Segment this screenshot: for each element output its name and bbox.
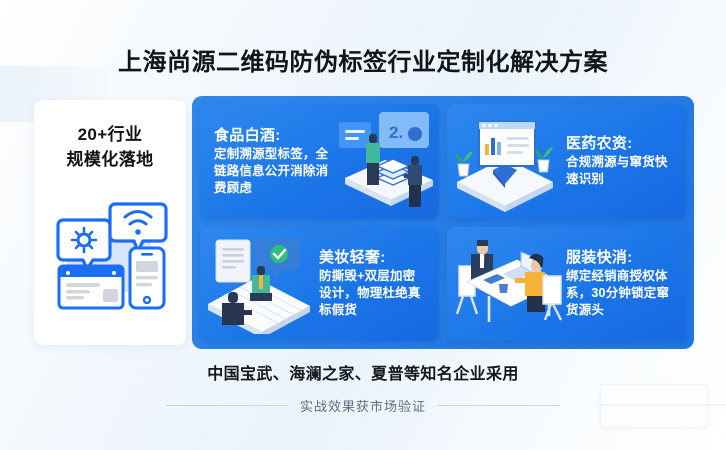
food-liquor-heading: 食品白酒: [214, 126, 332, 146]
pharma-agri-text: 医药农资: 合规溯源与窜货快速识别 [566, 134, 674, 188]
person-teal [250, 266, 272, 301]
apparel-fmcg-illustration [449, 227, 567, 340]
beauty-luxury-heading: 美妆轻奢: [319, 248, 427, 268]
page-title: 上海尚源二维码防伪标签行业定制化解决方案 [0, 42, 726, 77]
pharma-agri-illustration [449, 104, 561, 217]
industry-card-beauty-luxury[interactable]: 美妆轻奢: 防撕毁+双层加密设计，物理杜绝真标假货 [200, 227, 439, 342]
hero-title-line1: 20+行业 [67, 122, 154, 147]
hero-card: 20+行业 规模化落地 [34, 100, 186, 345]
footer-subtitle: 实战效果获市场验证 [300, 396, 426, 415]
beauty-luxury-body: 防撕毁+双层加密设计，物理杜绝真标假货 [319, 268, 427, 319]
hero-title-line2: 规模化落地 [67, 147, 154, 172]
beauty-luxury-illustration [202, 227, 316, 340]
content-stage: 20+行业 规模化落地 [34, 100, 694, 345]
industry-card-food-liquor[interactable]: 2. [200, 104, 439, 219]
footer-rule-left [166, 405, 288, 406]
footer-subtitle-row: 实战效果获市场验证 [0, 396, 726, 415]
apparel-fmcg-heading: 服装快消: [566, 248, 674, 268]
food-liquor-body: 定制溯源型标签，全链路信息公开消除消费顾虑 [214, 146, 332, 197]
smartphone-icon [130, 248, 164, 308]
food-liquor-illustration: 2. [329, 104, 439, 217]
industry-card-apparel-fmcg[interactable]: 服装快消: 绑定经销商授权体系，30分钟锁定窜货源头 [447, 227, 686, 342]
industry-card-pharma-agri[interactable]: 医药农资: 合规溯源与窜货快速识别 [447, 104, 686, 219]
hero-title: 20+行业 规模化落地 [67, 122, 154, 172]
apparel-fmcg-text: 服装快消: 绑定经销商授权体系，30分钟锁定窜货源头 [566, 248, 674, 319]
beauty-luxury-text: 美妆轻奢: 防撕毁+双层加密设计，物理杜绝真标假货 [319, 248, 427, 319]
pharma-agri-body: 合规溯源与窜货快速识别 [566, 154, 674, 188]
svg-text:2.: 2. [389, 123, 403, 142]
browser-window-icon [59, 266, 123, 308]
food-liquor-text: 食品白酒: 定制溯源型标签，全链路信息公开消除消费顾虑 [214, 126, 332, 197]
industry-cards-grid: 2. [200, 104, 686, 341]
hero-illustration [45, 190, 175, 310]
plant-right [535, 147, 553, 172]
apparel-fmcg-body: 绑定经销商授权体系，30分钟锁定窜货源头 [566, 268, 674, 319]
footer-clients: 中国宝武、海澜之家、夏普等知名企业采用 [0, 360, 726, 384]
plant-left [455, 151, 473, 176]
pharma-agri-heading: 医药农资: [566, 134, 674, 154]
footer: 中国宝武、海澜之家、夏普等知名企业采用 实战效果获市场验证 [0, 360, 726, 415]
footer-rule-right [438, 405, 560, 406]
